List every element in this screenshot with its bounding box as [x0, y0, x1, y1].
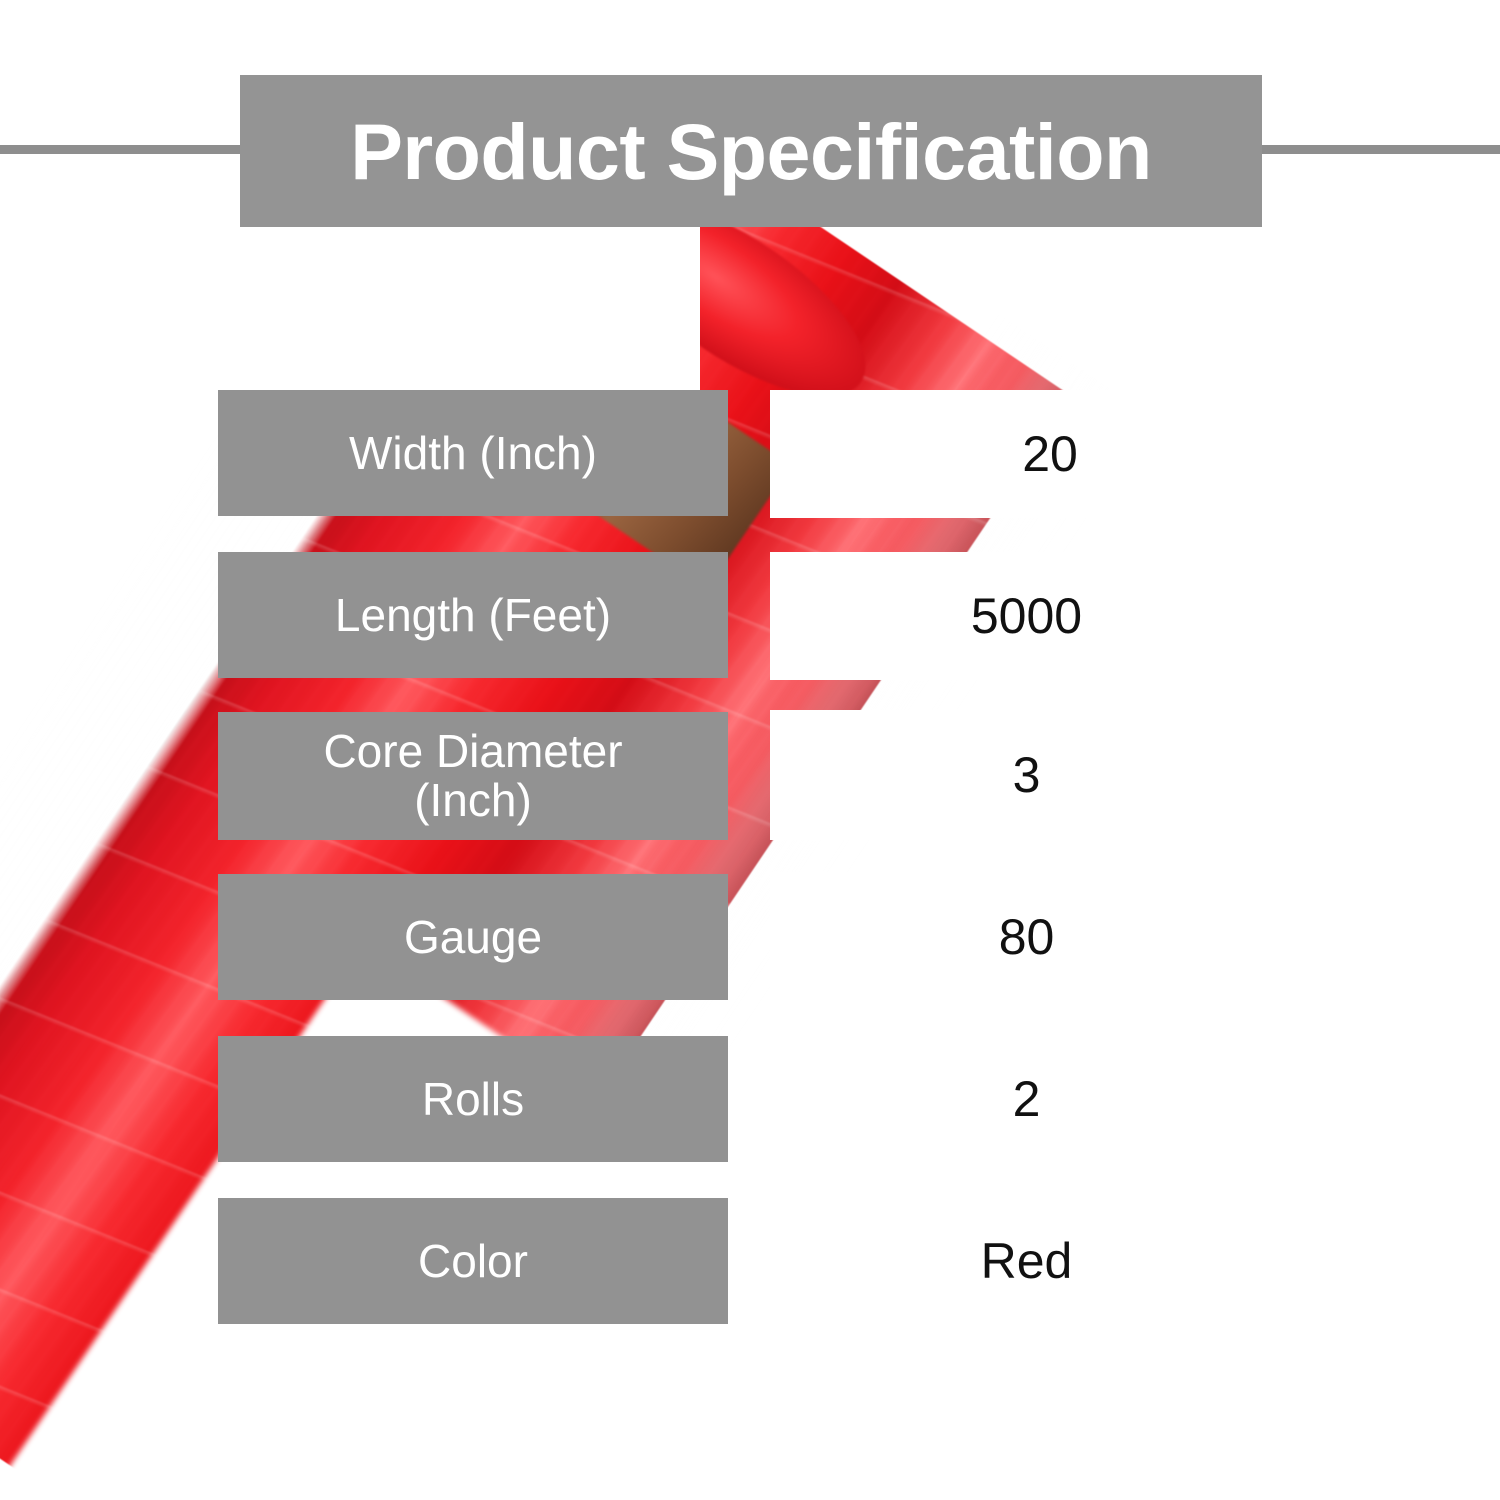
spec-value-cell: 5000	[770, 552, 1283, 680]
product-specification-page: Product Specification Width (Inch) 20 Le…	[0, 0, 1500, 1500]
specification-table: Width (Inch) 20 Length (Feet) 5000 Core …	[0, 0, 1500, 1500]
spec-value-cell: 20	[770, 390, 1330, 518]
spec-label-text: Color	[418, 1237, 528, 1286]
spec-label-text: Core Diameter	[323, 725, 622, 777]
spec-value-cell: Red	[770, 1196, 1283, 1326]
spec-label-cell: Core Diameter (Inch)	[218, 712, 728, 840]
spec-label-cell: Color	[218, 1198, 728, 1324]
spec-value-text: 20	[1022, 428, 1078, 481]
spec-label-text: Rolls	[422, 1075, 524, 1124]
spec-value-cell: 80	[770, 872, 1283, 1002]
spec-label-cell: Width (Inch)	[218, 390, 728, 516]
spec-value-cell: 3	[770, 710, 1283, 840]
spec-label-cell: Rolls	[218, 1036, 728, 1162]
spec-value-cell: 2	[770, 1034, 1283, 1164]
spec-label-cell: Length (Feet)	[218, 552, 728, 678]
spec-value-text: 2	[1013, 1073, 1041, 1126]
spec-label-text: Length (Feet)	[335, 591, 611, 640]
spec-label-text: Width (Inch)	[349, 429, 597, 478]
spec-label-cell: Gauge	[218, 874, 728, 1000]
spec-label-text: Gauge	[404, 913, 542, 962]
spec-value-text: Red	[981, 1235, 1073, 1288]
spec-value-text: 80	[999, 911, 1055, 964]
spec-label-text-line2: (Inch)	[323, 776, 622, 825]
spec-value-text: 5000	[971, 590, 1082, 643]
spec-value-text: 3	[1013, 749, 1041, 802]
